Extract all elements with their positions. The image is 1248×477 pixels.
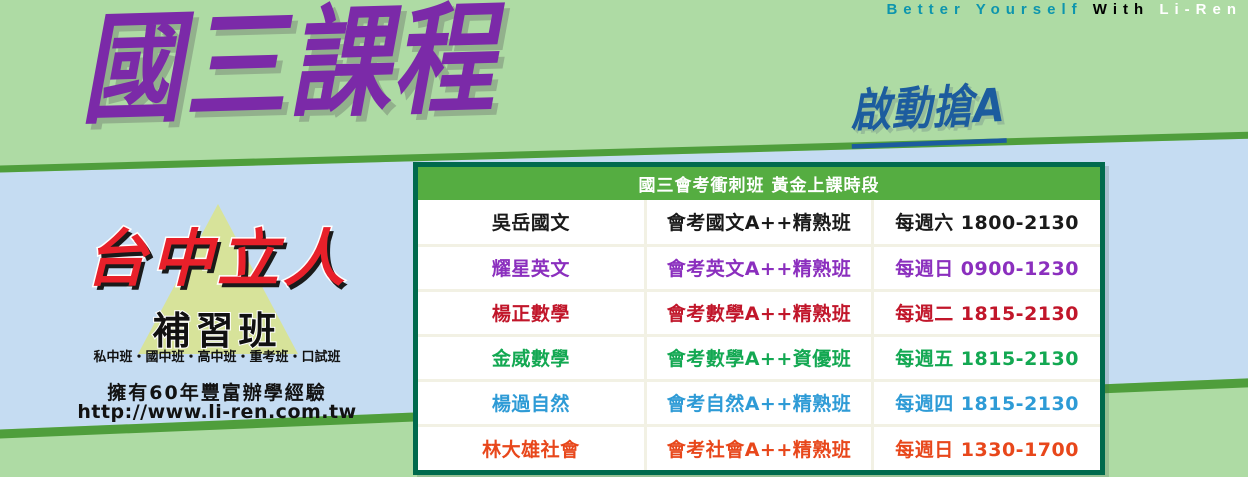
schedule-cell-teacher: 耀星英文 [418, 245, 645, 290]
tagline-part-liren: Li-Ren [1159, 1, 1242, 18]
schedule-header-title: 國三會考衝刺班 黃金上課時段 [418, 167, 1100, 200]
schedule-cell-course: 會考數學A++資優班 [645, 335, 872, 380]
schedule-cell-teacher: 楊正數學 [418, 290, 645, 335]
schedule-cell-time: 每週日 0900-1230 [873, 245, 1100, 290]
schedule-cell-time: 每週二 1815-2130 [873, 290, 1100, 335]
schedule-table: 國三會考衝刺班 黃金上課時段 吳岳國文會考國文A++精熟班每週六 1800-21… [418, 167, 1100, 470]
schedule-cell-course: 會考社會A++精熟班 [645, 425, 872, 470]
table-row: 楊過自然會考自然A++精熟班每週四 1815-2130 [418, 380, 1100, 425]
logo-school-name: 台中立人 [42, 208, 392, 298]
schedule-cell-teacher: 金威數學 [418, 335, 645, 380]
schedule-table-container: 國三會考衝刺班 黃金上課時段 吳岳國文會考國文A++精熟班每週六 1800-21… [413, 162, 1105, 475]
table-row: 楊正數學會考數學A++精熟班每週二 1815-2130 [418, 290, 1100, 335]
table-row: 吳岳國文會考國文A++精熟班每週六 1800-2130 [418, 200, 1100, 245]
tagline-part-better-yourself: Better Yourself [886, 1, 1082, 18]
logo-website-url[interactable]: http://www.li-ren.com.tw [42, 401, 392, 423]
table-row: 耀星英文會考英文A++精熟班每週日 0900-1230 [418, 245, 1100, 290]
schedule-cell-course: 會考英文A++精熟班 [645, 245, 872, 290]
schedule-cell-course: 會考數學A++精熟班 [645, 290, 872, 335]
schedule-header-row: 國三會考衝刺班 黃金上課時段 [418, 167, 1100, 200]
schedule-cell-time: 每週五 1815-2130 [873, 335, 1100, 380]
schedule-cell-time: 每週六 1800-2130 [873, 200, 1100, 245]
schedule-cell-course: 會考國文A++精熟班 [645, 200, 872, 245]
logo-class-categories: 私中班・國中班・高中班・重考班・口試班 [42, 346, 392, 365]
schedule-cell-teacher: 林大雄社會 [418, 425, 645, 470]
tagline-part-with: With [1093, 1, 1149, 18]
schedule-table-head: 國三會考衝刺班 黃金上課時段 [418, 167, 1100, 200]
schedule-cell-teacher: 楊過自然 [418, 380, 645, 425]
table-row: 金威數學會考數學A++資優班每週五 1815-2130 [418, 335, 1100, 380]
table-row: 林大雄社會會考社會A++精熟班每週日 1330-1700 [418, 425, 1100, 470]
school-logo: 台中立人 補習班 私中班・國中班・高中班・重考班・口試班 擁有60年豐富辦學經驗… [42, 196, 392, 426]
schedule-table-body: 吳岳國文會考國文A++精熟班每週六 1800-2130耀星英文會考英文A++精熟… [418, 200, 1100, 470]
schedule-cell-course: 會考自然A++精熟班 [645, 380, 872, 425]
page-title: 國三課程 [78, 0, 498, 138]
schedule-cell-time: 每週四 1815-2130 [873, 380, 1100, 425]
schedule-cell-time: 每週日 1330-1700 [873, 425, 1100, 470]
brand-tagline: Better Yourself With Li-Ren [886, 1, 1242, 18]
schedule-cell-teacher: 吳岳國文 [418, 200, 645, 245]
page-subtitle: 啟動搶A [849, 68, 1007, 149]
promo-poster: Better Yourself With Li-Ren 國三課程 啟動搶A 台中… [0, 0, 1248, 477]
